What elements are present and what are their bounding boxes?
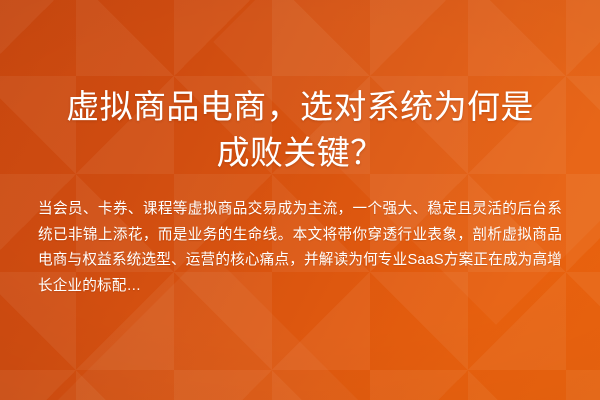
- article-cover-card[interactable]: 虚拟商品电商，选对系统为何是 成败关键？ 当会员、卡券、课程等虚拟商品交易成为主…: [0, 0, 600, 400]
- cover-content: 虚拟商品电商，选对系统为何是 成败关键？ 当会员、卡券、课程等虚拟商品交易成为主…: [0, 0, 600, 400]
- article-title: 虚拟商品电商，选对系统为何是 成败关键？: [36, 84, 564, 176]
- article-summary: 当会员、卡券、课程等虚拟商品交易成为主流，一个强大、稳定且灵活的后台系统已非锦上…: [36, 197, 564, 299]
